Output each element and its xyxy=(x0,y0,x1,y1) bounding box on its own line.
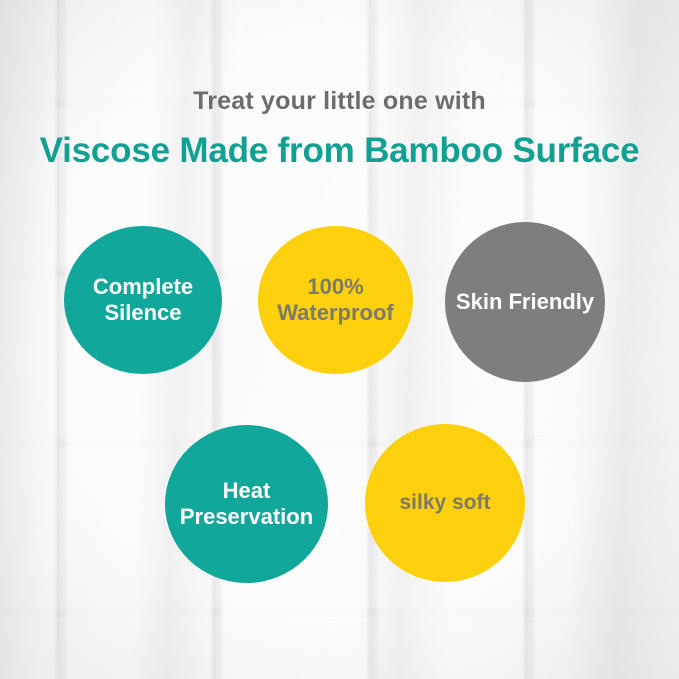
product-feature-poster: Treat your little one with Viscose Made … xyxy=(0,0,679,679)
feature-label-silky-soft: silky soft xyxy=(365,491,525,515)
feature-label-complete-silence: Complete Silence xyxy=(64,274,222,325)
page-title: Viscose Made from Bamboo Surface xyxy=(0,132,679,171)
feature-label-heat-preservation: Heat Preservation xyxy=(165,478,328,529)
feature-bubble-silky-soft: silky soft xyxy=(365,424,525,582)
heading-block: Treat your little one with Viscose Made … xyxy=(0,88,679,170)
eyebrow-text: Treat your little one with xyxy=(0,88,679,116)
feature-bubble-complete-silence: Complete Silence xyxy=(64,226,222,374)
feature-bubble-skin-friendly: Skin Friendly xyxy=(445,222,605,382)
feature-label-waterproof: 100% Waterproof xyxy=(258,274,413,325)
feature-bubble-waterproof: 100% Waterproof xyxy=(258,226,413,374)
feature-label-skin-friendly: Skin Friendly xyxy=(445,289,605,315)
feature-bubble-heat-preservation: Heat Preservation xyxy=(165,425,328,583)
